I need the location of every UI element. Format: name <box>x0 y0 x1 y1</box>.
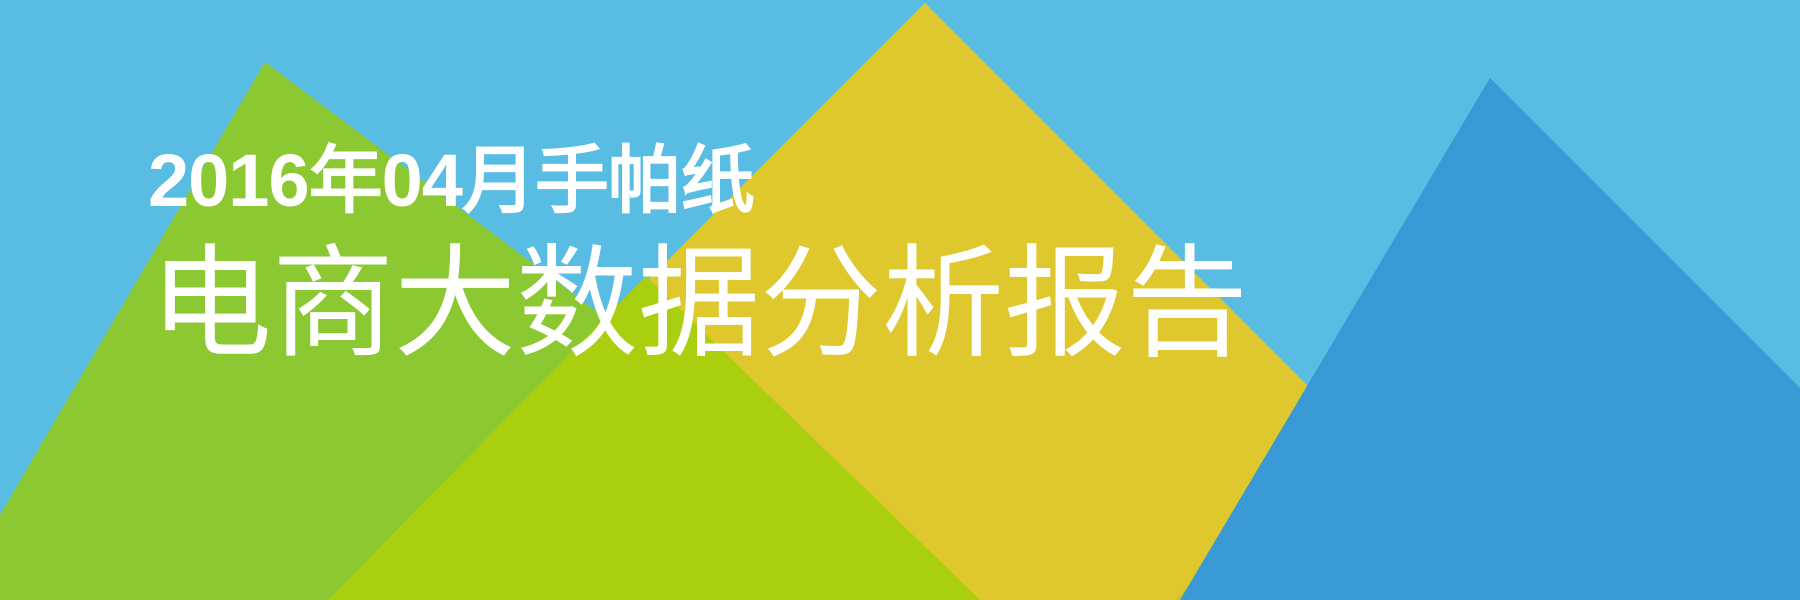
background-geometric-artwork <box>0 0 1800 600</box>
report-cover-banner: 2016年04月手帕纸 电商大数据分析报告 <box>0 0 1800 600</box>
